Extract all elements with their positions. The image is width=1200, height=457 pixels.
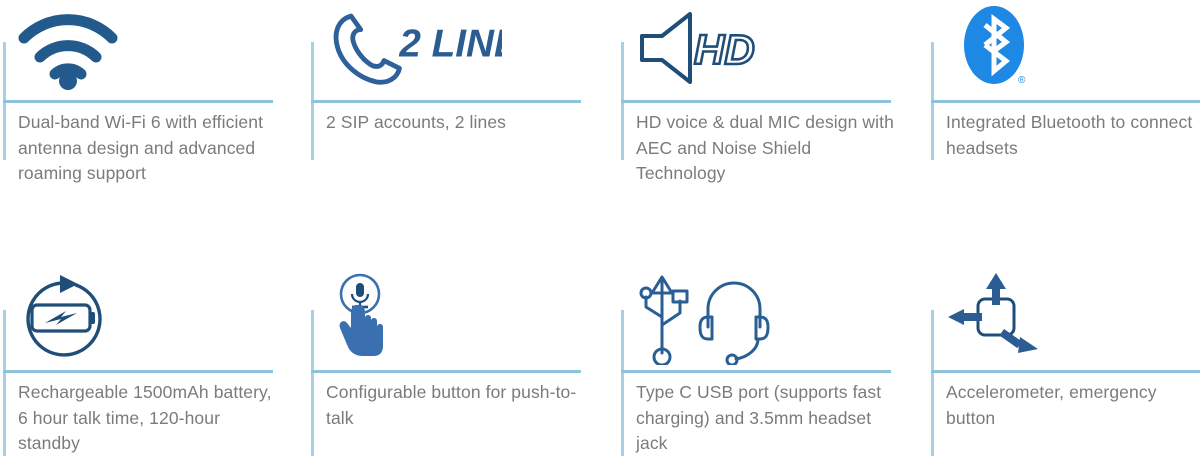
feature-cell-two-lines: 2 LINES 2 SIP accounts, 2 lines <box>308 0 618 232</box>
cell-vertical-rule <box>3 310 6 456</box>
feature-caption: 2 SIP accounts, 2 lines <box>326 110 584 136</box>
feature-caption: Rechargeable 1500mAh battery, 6 hour tal… <box>18 380 276 457</box>
push-to-talk-finger-icon <box>322 272 502 366</box>
feature-caption: Integrated Bluetooth to connect headsets <box>946 110 1200 161</box>
icon-text-hd: HD <box>694 26 755 73</box>
usb-and-headset-icon <box>632 272 812 366</box>
cell-vertical-rule <box>931 310 934 456</box>
feature-caption: Accelerometer, emergency button <box>946 380 1200 431</box>
rechargeable-battery-icon <box>14 272 194 366</box>
hd-speaker-icon: HD <box>632 0 812 96</box>
icon-text-2-lines: 2 LINES <box>398 23 502 66</box>
feature-cell-accelerometer: Accelerometer, emergency button <box>928 268 1200 456</box>
cell-vertical-rule <box>621 310 624 456</box>
feature-caption: Configurable button for push-to-talk <box>326 380 584 431</box>
cell-horizontal-rule <box>311 370 581 373</box>
feature-cell-hd-voice: HD HD voice & dual MIC design with AEC a… <box>618 0 928 232</box>
cell-horizontal-rule <box>931 370 1200 373</box>
feature-cell-battery: Rechargeable 1500mAh battery, 6 hour tal… <box>0 268 300 456</box>
cell-horizontal-rule <box>621 370 891 373</box>
feature-cell-usb-headset: Type C USB port (supports fast charging)… <box>618 268 928 456</box>
feature-cell-bluetooth: ® Integrated Bluetooth to connect headse… <box>928 0 1200 232</box>
cell-vertical-rule <box>311 310 314 456</box>
registered-mark: ® <box>1018 75 1026 86</box>
cell-horizontal-rule <box>931 100 1200 103</box>
cell-horizontal-rule <box>311 100 581 103</box>
feature-cell-ptt-button: Configurable button for push-to-talk <box>308 268 618 456</box>
cell-horizontal-rule <box>3 370 273 373</box>
phone-handset-2-lines-icon: 2 LINES <box>322 0 502 96</box>
feature-caption: Dual-band Wi-Fi 6 with efficient antenna… <box>18 110 276 187</box>
feature-cell-wifi: Dual-band Wi-Fi 6 with efficient antenna… <box>0 0 300 232</box>
bluetooth-icon: ® <box>942 0 1122 96</box>
feature-caption: Type C USB port (supports fast charging)… <box>636 380 894 457</box>
feature-caption: HD voice & dual MIC design with AEC and … <box>636 110 894 187</box>
accelerometer-axes-icon <box>942 272 1122 366</box>
cell-horizontal-rule <box>3 100 273 103</box>
wifi-signal-icon <box>14 0 194 96</box>
cell-horizontal-rule <box>621 100 891 103</box>
feature-grid: Dual-band Wi-Fi 6 with efficient antenna… <box>0 0 1200 456</box>
